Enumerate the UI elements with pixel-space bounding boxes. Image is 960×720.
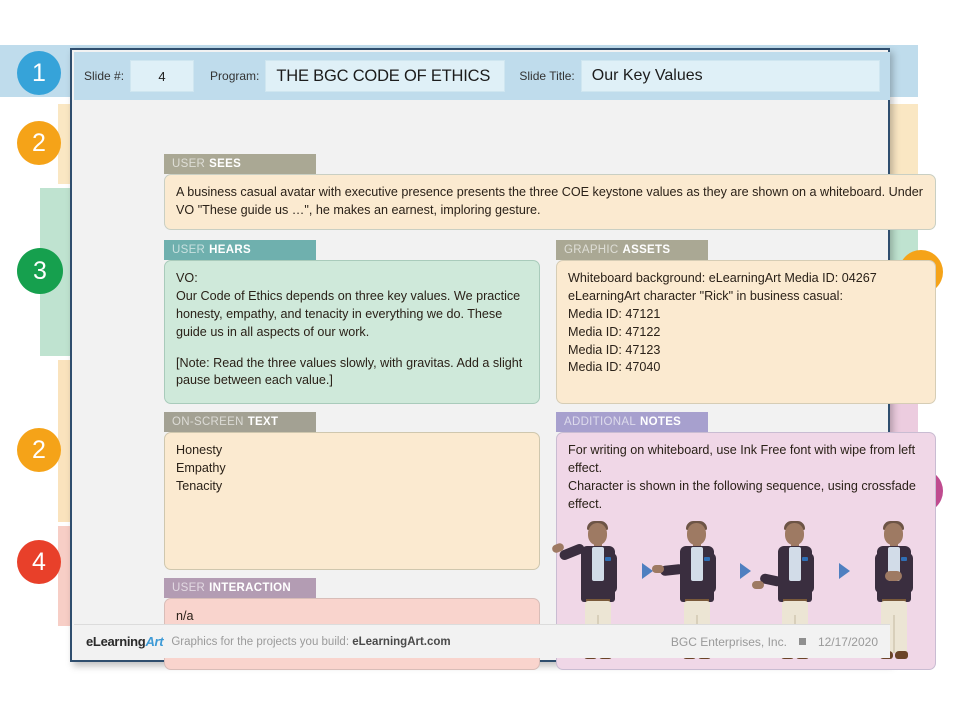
tab-word-1: GRAPHIC — [564, 244, 619, 256]
separator-square-icon — [799, 638, 806, 645]
section-tab-user-sees: USER SEES — [164, 154, 316, 174]
tab-word-2: SEES — [209, 158, 241, 170]
tab-word-2: INTERACTION — [209, 582, 291, 594]
slide-canvas: 1 2 3 2 4 2 5 Slide #: 4 Program: THE BG… — [0, 0, 960, 720]
program-field[interactable]: THE BGC CODE OF ETHICS — [265, 60, 505, 92]
storyboard-card: Slide #: 4 Program: THE BGC CODE OF ETHI… — [70, 48, 890, 662]
tagline-prefix: Graphics for the projects you build: — [171, 636, 352, 648]
footer-date: 12/17/2020 — [818, 635, 878, 649]
section-tab-graphic-assets: GRAPHIC ASSETS — [556, 240, 708, 260]
section-body-user-sees[interactable]: A business casual avatar with executive … — [164, 174, 936, 230]
asset-line: Media ID: 47123 — [568, 342, 924, 360]
storyboard-footer: eLearningArt Graphics for the projects y… — [74, 624, 890, 658]
step-number: 1 — [32, 61, 46, 86]
value-item: Honesty — [176, 442, 528, 460]
logo-text-1: eLearning — [86, 634, 145, 649]
arrow-right-icon — [839, 563, 850, 579]
footer-tagline: Graphics for the projects you build: eLe… — [171, 636, 450, 648]
section-body-on-screen-text[interactable]: Honesty Empathy Tenacity — [164, 432, 540, 570]
section-user-sees: USER SEES A business casual avatar with … — [164, 154, 936, 230]
tab-word-2: ASSETS — [623, 244, 671, 256]
footer-right: BGC Enterprises, Inc. 12/17/2020 — [671, 635, 878, 649]
tab-word-1: USER — [172, 582, 205, 594]
vo-script: Our Code of Ethics depends on three key … — [176, 288, 528, 342]
slide-title-field[interactable]: Our Key Values — [581, 60, 880, 92]
step-circle-1: 1 — [17, 51, 61, 95]
section-tab-user-interaction: USER INTERACTION — [164, 578, 316, 598]
program-label: Program: — [210, 69, 259, 83]
tagline-link[interactable]: eLearningArt.com — [352, 636, 450, 648]
storyboard-header: Slide #: 4 Program: THE BGC CODE OF ETHI… — [74, 52, 890, 100]
spacer — [176, 342, 528, 355]
asset-line: Media ID: 47122 — [568, 324, 924, 342]
step-circle-2: 2 — [17, 121, 61, 165]
tab-word-1: ON-SCREEN — [172, 416, 244, 428]
tab-word-1: USER — [172, 158, 205, 170]
step-number: 2 — [32, 131, 46, 156]
tab-word-2: TEXT — [248, 416, 279, 428]
section-body-graphic-assets[interactable]: Whiteboard background: eLearningArt Medi… — [556, 260, 936, 404]
step-circle-3: 3 — [17, 248, 63, 294]
vo-label: VO: — [176, 270, 528, 288]
vo-note: [Note: Read the three values slowly, wit… — [176, 355, 528, 391]
tab-word-1: ADDITIONAL — [564, 416, 636, 428]
value-item: Tenacity — [176, 478, 528, 496]
section-tab-on-screen-text: ON-SCREEN TEXT — [164, 412, 316, 432]
value-item: Empathy — [176, 460, 528, 478]
company-name: BGC Enterprises, Inc. — [671, 635, 787, 649]
slide-title-label: Slide Title: — [519, 69, 574, 83]
logo-text-2: Art — [145, 634, 163, 649]
note-paragraph: For writing on whiteboard, use Ink Free … — [568, 442, 924, 478]
step-number: 4 — [32, 550, 46, 575]
arrow-right-icon — [642, 563, 653, 579]
elearningart-logo: eLearningArt — [86, 634, 163, 649]
tab-word-2: HEARS — [209, 244, 251, 256]
arrow-right-icon — [740, 563, 751, 579]
note-paragraph: Character is shown in the following sequ… — [568, 478, 924, 514]
asset-line: Whiteboard background: eLearningArt Medi… — [568, 270, 924, 288]
tab-word-2: NOTES — [640, 416, 681, 428]
step-number: 2 — [32, 438, 46, 463]
slide-number-label: Slide #: — [84, 69, 124, 83]
asset-line: Media ID: 47040 — [568, 359, 924, 377]
section-graphic-assets: GRAPHIC ASSETS Whiteboard background: eL… — [556, 240, 936, 404]
section-user-hears: USER HEARS VO: Our Code of Ethics depend… — [164, 240, 540, 404]
asset-line: eLearningArt character "Rick" in busines… — [568, 288, 924, 306]
slide-number-field[interactable]: 4 — [130, 60, 194, 92]
section-on-screen-text: ON-SCREEN TEXT Honesty Empathy Tenacity — [164, 412, 540, 570]
section-tab-additional-notes: ADDITIONAL NOTES — [556, 412, 708, 432]
step-number: 3 — [33, 259, 47, 284]
step-circle-5: 4 — [17, 540, 61, 584]
step-circle-4: 2 — [17, 428, 61, 472]
section-tab-user-hears: USER HEARS — [164, 240, 316, 260]
tab-word-1: USER — [172, 244, 205, 256]
section-body-user-hears[interactable]: VO: Our Code of Ethics depends on three … — [164, 260, 540, 404]
asset-line: Media ID: 47121 — [568, 306, 924, 324]
